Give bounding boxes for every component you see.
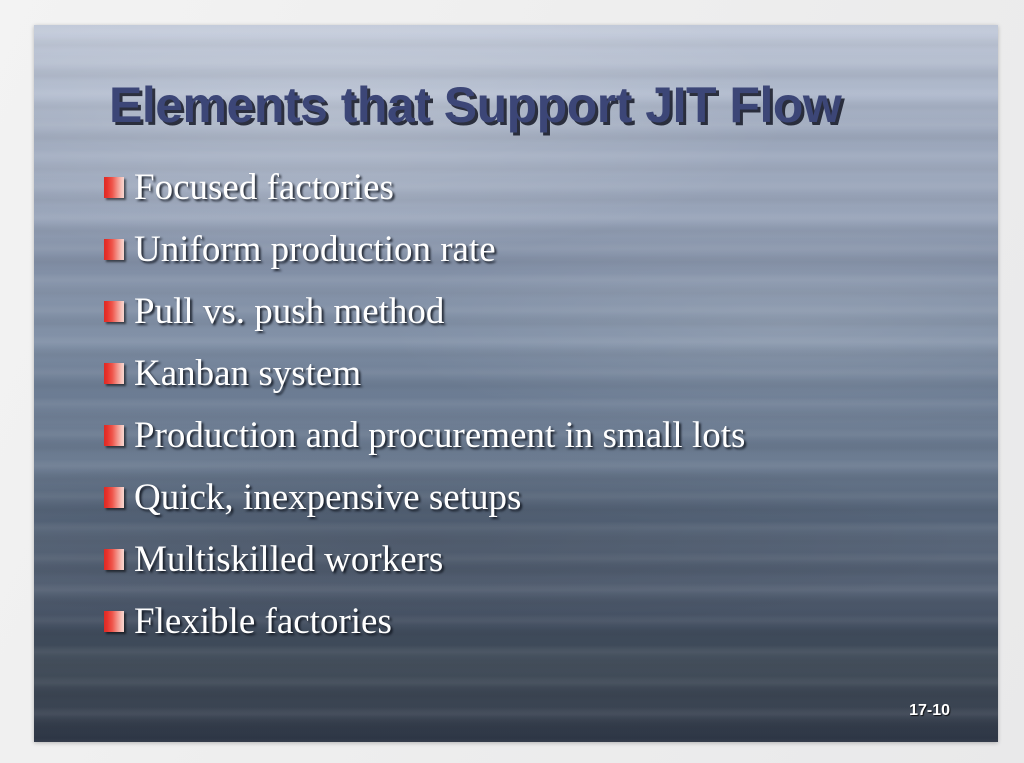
- bullet-item-label: Uniform production rate: [134, 230, 496, 270]
- square-bullet-icon: [104, 239, 124, 260]
- square-bullet-icon: [104, 549, 124, 570]
- square-bullet-icon: [104, 425, 124, 446]
- page-number: 17-10: [909, 702, 950, 720]
- bullet-item-label: Flexible factories: [134, 602, 392, 642]
- bullet-item-label: Multiskilled workers: [134, 540, 443, 580]
- list-item: Flexible factories: [104, 602, 994, 664]
- list-item: Multiskilled workers: [104, 540, 994, 602]
- square-bullet-icon: [104, 363, 124, 384]
- bullet-item-label: Quick, inexpensive setups: [134, 478, 521, 518]
- list-item: Production and procurement in small lots: [104, 416, 994, 478]
- list-item: Pull vs. push method: [104, 292, 994, 354]
- slide-title: Elements that Support JIT Flow: [109, 76, 969, 134]
- bullet-item-label: Kanban system: [134, 354, 361, 394]
- bullet-list: Focused factories Uniform production rat…: [104, 168, 994, 664]
- bullet-item-label: Pull vs. push method: [134, 292, 444, 332]
- slide-canvas: Elements that Support JIT Flow Focused f…: [34, 25, 998, 742]
- list-item: Uniform production rate: [104, 230, 994, 292]
- bullet-item-label: Focused factories: [134, 168, 394, 208]
- bullet-item-label: Production and procurement in small lots: [134, 416, 745, 456]
- list-item: Quick, inexpensive setups: [104, 478, 994, 540]
- slide-page: Elements that Support JIT Flow Focused f…: [0, 0, 1024, 763]
- square-bullet-icon: [104, 487, 124, 508]
- list-item: Kanban system: [104, 354, 994, 416]
- square-bullet-icon: [104, 177, 124, 198]
- list-item: Focused factories: [104, 168, 994, 230]
- square-bullet-icon: [104, 611, 124, 632]
- square-bullet-icon: [104, 301, 124, 322]
